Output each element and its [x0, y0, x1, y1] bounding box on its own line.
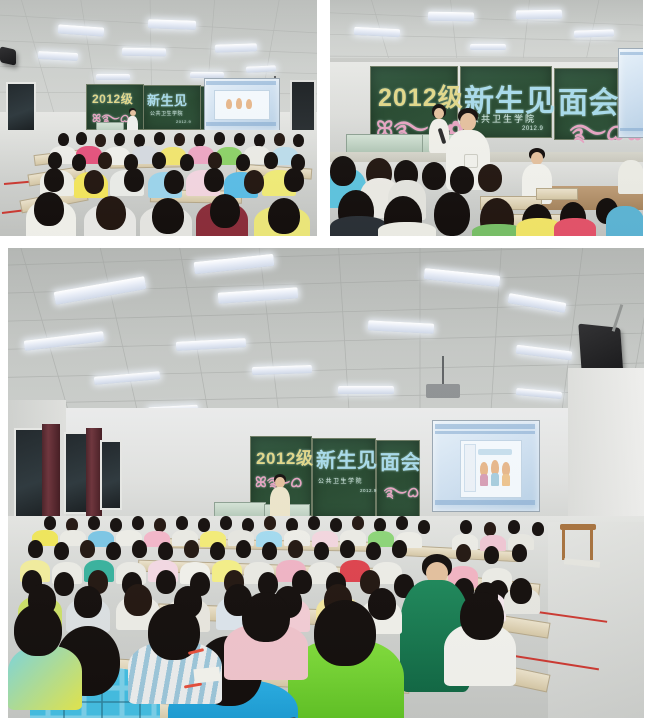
- student-gradient-shirt: [8, 646, 82, 710]
- ceiling-light: [148, 19, 196, 30]
- student-head: [460, 592, 504, 640]
- blackboard-college-name: 公共卫生学院: [150, 110, 183, 117]
- window: [100, 440, 122, 510]
- curtain: [42, 424, 60, 524]
- screen-statusbar: [620, 128, 643, 131]
- desk-row: [536, 188, 578, 200]
- window: [6, 82, 36, 132]
- ceiling-light: [96, 74, 130, 80]
- blackboard-headline-main: 新生见: [147, 90, 188, 109]
- screen-toolbar: [435, 431, 535, 434]
- slide-figure: [246, 99, 252, 109]
- photo-collage: 2012级 新生见 面会 公共卫生学院 2012.9 ꕤ࿐ᜊ ✿࿐: [0, 0, 650, 726]
- blackboard-date: 2012.9: [522, 126, 543, 132]
- stool-leg: [562, 530, 565, 560]
- stool-leg: [590, 530, 593, 560]
- screen-toolbar: [620, 52, 643, 55]
- ceiling-light: [215, 43, 257, 52]
- ceiling-light: [470, 44, 506, 50]
- ceiling-light: [338, 386, 394, 394]
- screen-toolbar: [435, 424, 535, 429]
- ceiling-light: [516, 10, 562, 20]
- ceiling-projector: [426, 384, 460, 398]
- slide-figure: [236, 98, 242, 109]
- projected-slide: [214, 90, 270, 120]
- photo-bottom-wide: 2012级 ꕤ࿐ᜊ 新生见 面会 公共卫生学院 2012.9 ࿐ᜊ: [8, 248, 644, 718]
- student-head: [314, 600, 376, 666]
- screen-statusbar: [206, 122, 276, 126]
- slide-figure-body: [480, 474, 488, 486]
- paper: [193, 667, 220, 684]
- photo-top-left: 2012级 新生见 面会 公共卫生学院 2012.9 ꕤ࿐ᜊ ✿࿐: [0, 0, 317, 236]
- student-head: [460, 113, 476, 131]
- projector-mount: [442, 356, 444, 386]
- presenter-torso: [270, 487, 290, 519]
- wall-trim: [330, 58, 643, 62]
- chalk-flourish: ࿐ᜊ: [384, 476, 420, 516]
- slide-title-bar: [478, 449, 512, 455]
- blackboard-headline-tail: 面会: [380, 446, 421, 475]
- projection-screen: [618, 48, 643, 138]
- blackboard-date: 2012.9: [360, 488, 377, 493]
- slide-sidebar: [464, 444, 476, 492]
- ceiling-light: [574, 29, 614, 37]
- screen-toolbar: [206, 81, 276, 85]
- blackboard-headline-main: 新生见: [316, 444, 378, 473]
- ceiling-light: [428, 12, 474, 22]
- blackboard-college-name: 公共卫生学院: [318, 476, 363, 485]
- screen-statusbar: [435, 500, 535, 505]
- slide-figure-body: [491, 473, 499, 486]
- slide-figure: [226, 99, 232, 109]
- ceiling-light: [122, 48, 166, 57]
- blackboard-headline-year: 2012级: [92, 90, 133, 107]
- photo-top-right: 2012级 ꕤ࿐ᜊ✿ 新生见 面会 公共卫生学院 2012.9 ࿐ᜊ✿: [330, 0, 643, 236]
- blackboard-date: 2012.9: [176, 119, 191, 124]
- student-head: [14, 604, 62, 656]
- host-head: [434, 108, 444, 119]
- student-head: [242, 592, 290, 642]
- wall-speaker: [0, 46, 16, 65]
- slide-figure-body: [502, 474, 510, 486]
